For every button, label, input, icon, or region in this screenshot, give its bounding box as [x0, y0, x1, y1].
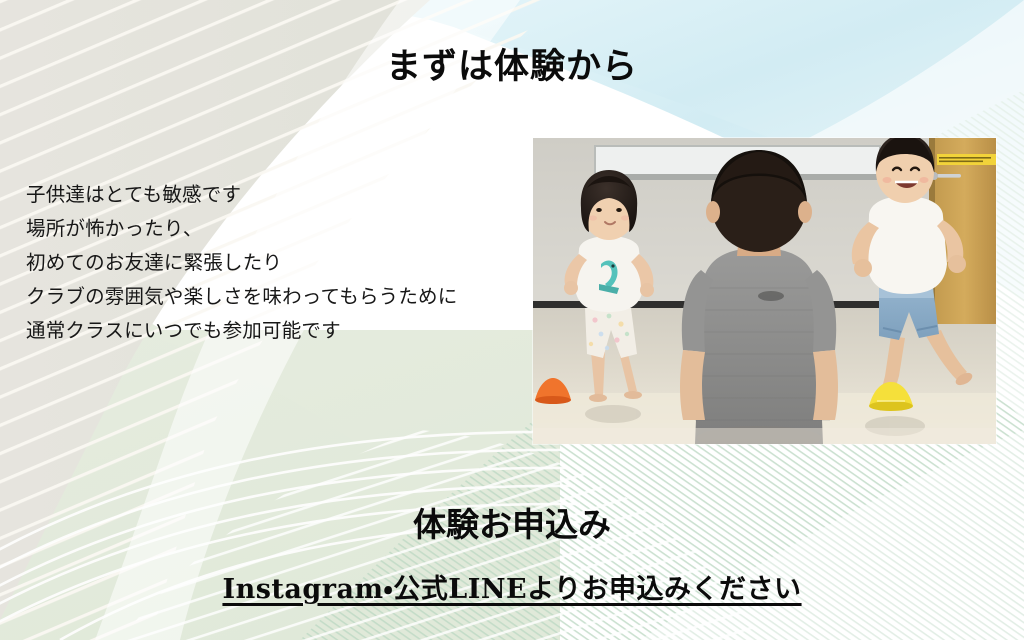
body-line-4: クラブの雰囲気や楽しさを味わってもらうために [26, 280, 457, 314]
cta-heading: 体験お申込み [0, 498, 1024, 546]
body-line-3: 初めてのお友達に緊張したり [26, 246, 457, 280]
body-copy-block: 子供達はとても敏感です 場所が怖かったり、 初めてのお友達に緊張したり クラブの… [26, 178, 457, 348]
cta-link-text[interactable]: Instagram・公式LINEよりお申込みください [222, 574, 801, 605]
body-line-5: 通常クラスにいつでも参加可能です [26, 314, 457, 348]
body-line-2: 場所が怖かったり、 [26, 212, 457, 246]
cta-link-row: Instagram・公式LINEよりお申込みください [0, 567, 1024, 606]
activity-photo [533, 138, 996, 444]
photo-illustration [533, 138, 996, 444]
slide-title: まずは体験から [0, 38, 1024, 89]
body-line-1: 子供達はとても敏感です [26, 178, 457, 212]
slide-canvas: まずは体験から 子供達はとても敏感です 場所が怖かったり、 初めてのお友達に緊張… [0, 0, 1024, 640]
